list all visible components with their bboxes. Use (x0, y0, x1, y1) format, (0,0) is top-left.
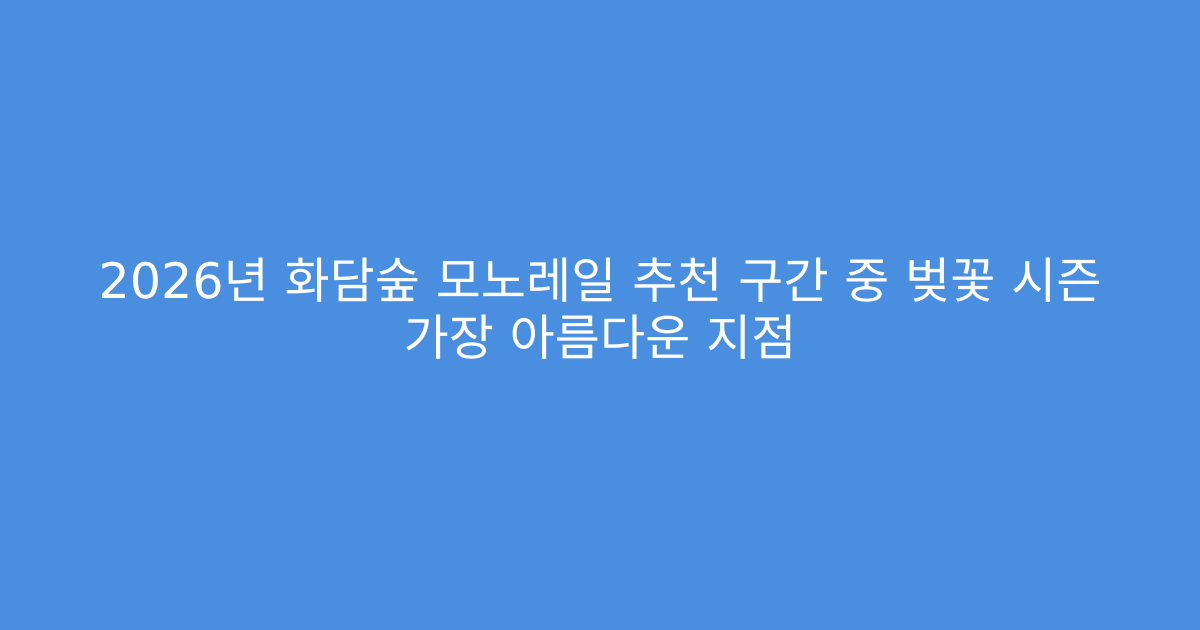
card-title: 2026년 화담숲 모노레일 추천 구간 중 벚꽃 시즌 가장 아름다운 지점 (60, 253, 1140, 367)
og-share-card: 2026년 화담숲 모노레일 추천 구간 중 벚꽃 시즌 가장 아름다운 지점 (0, 0, 1200, 630)
title-block: 2026년 화담숲 모노레일 추천 구간 중 벚꽃 시즌 가장 아름다운 지점 (60, 253, 1140, 367)
